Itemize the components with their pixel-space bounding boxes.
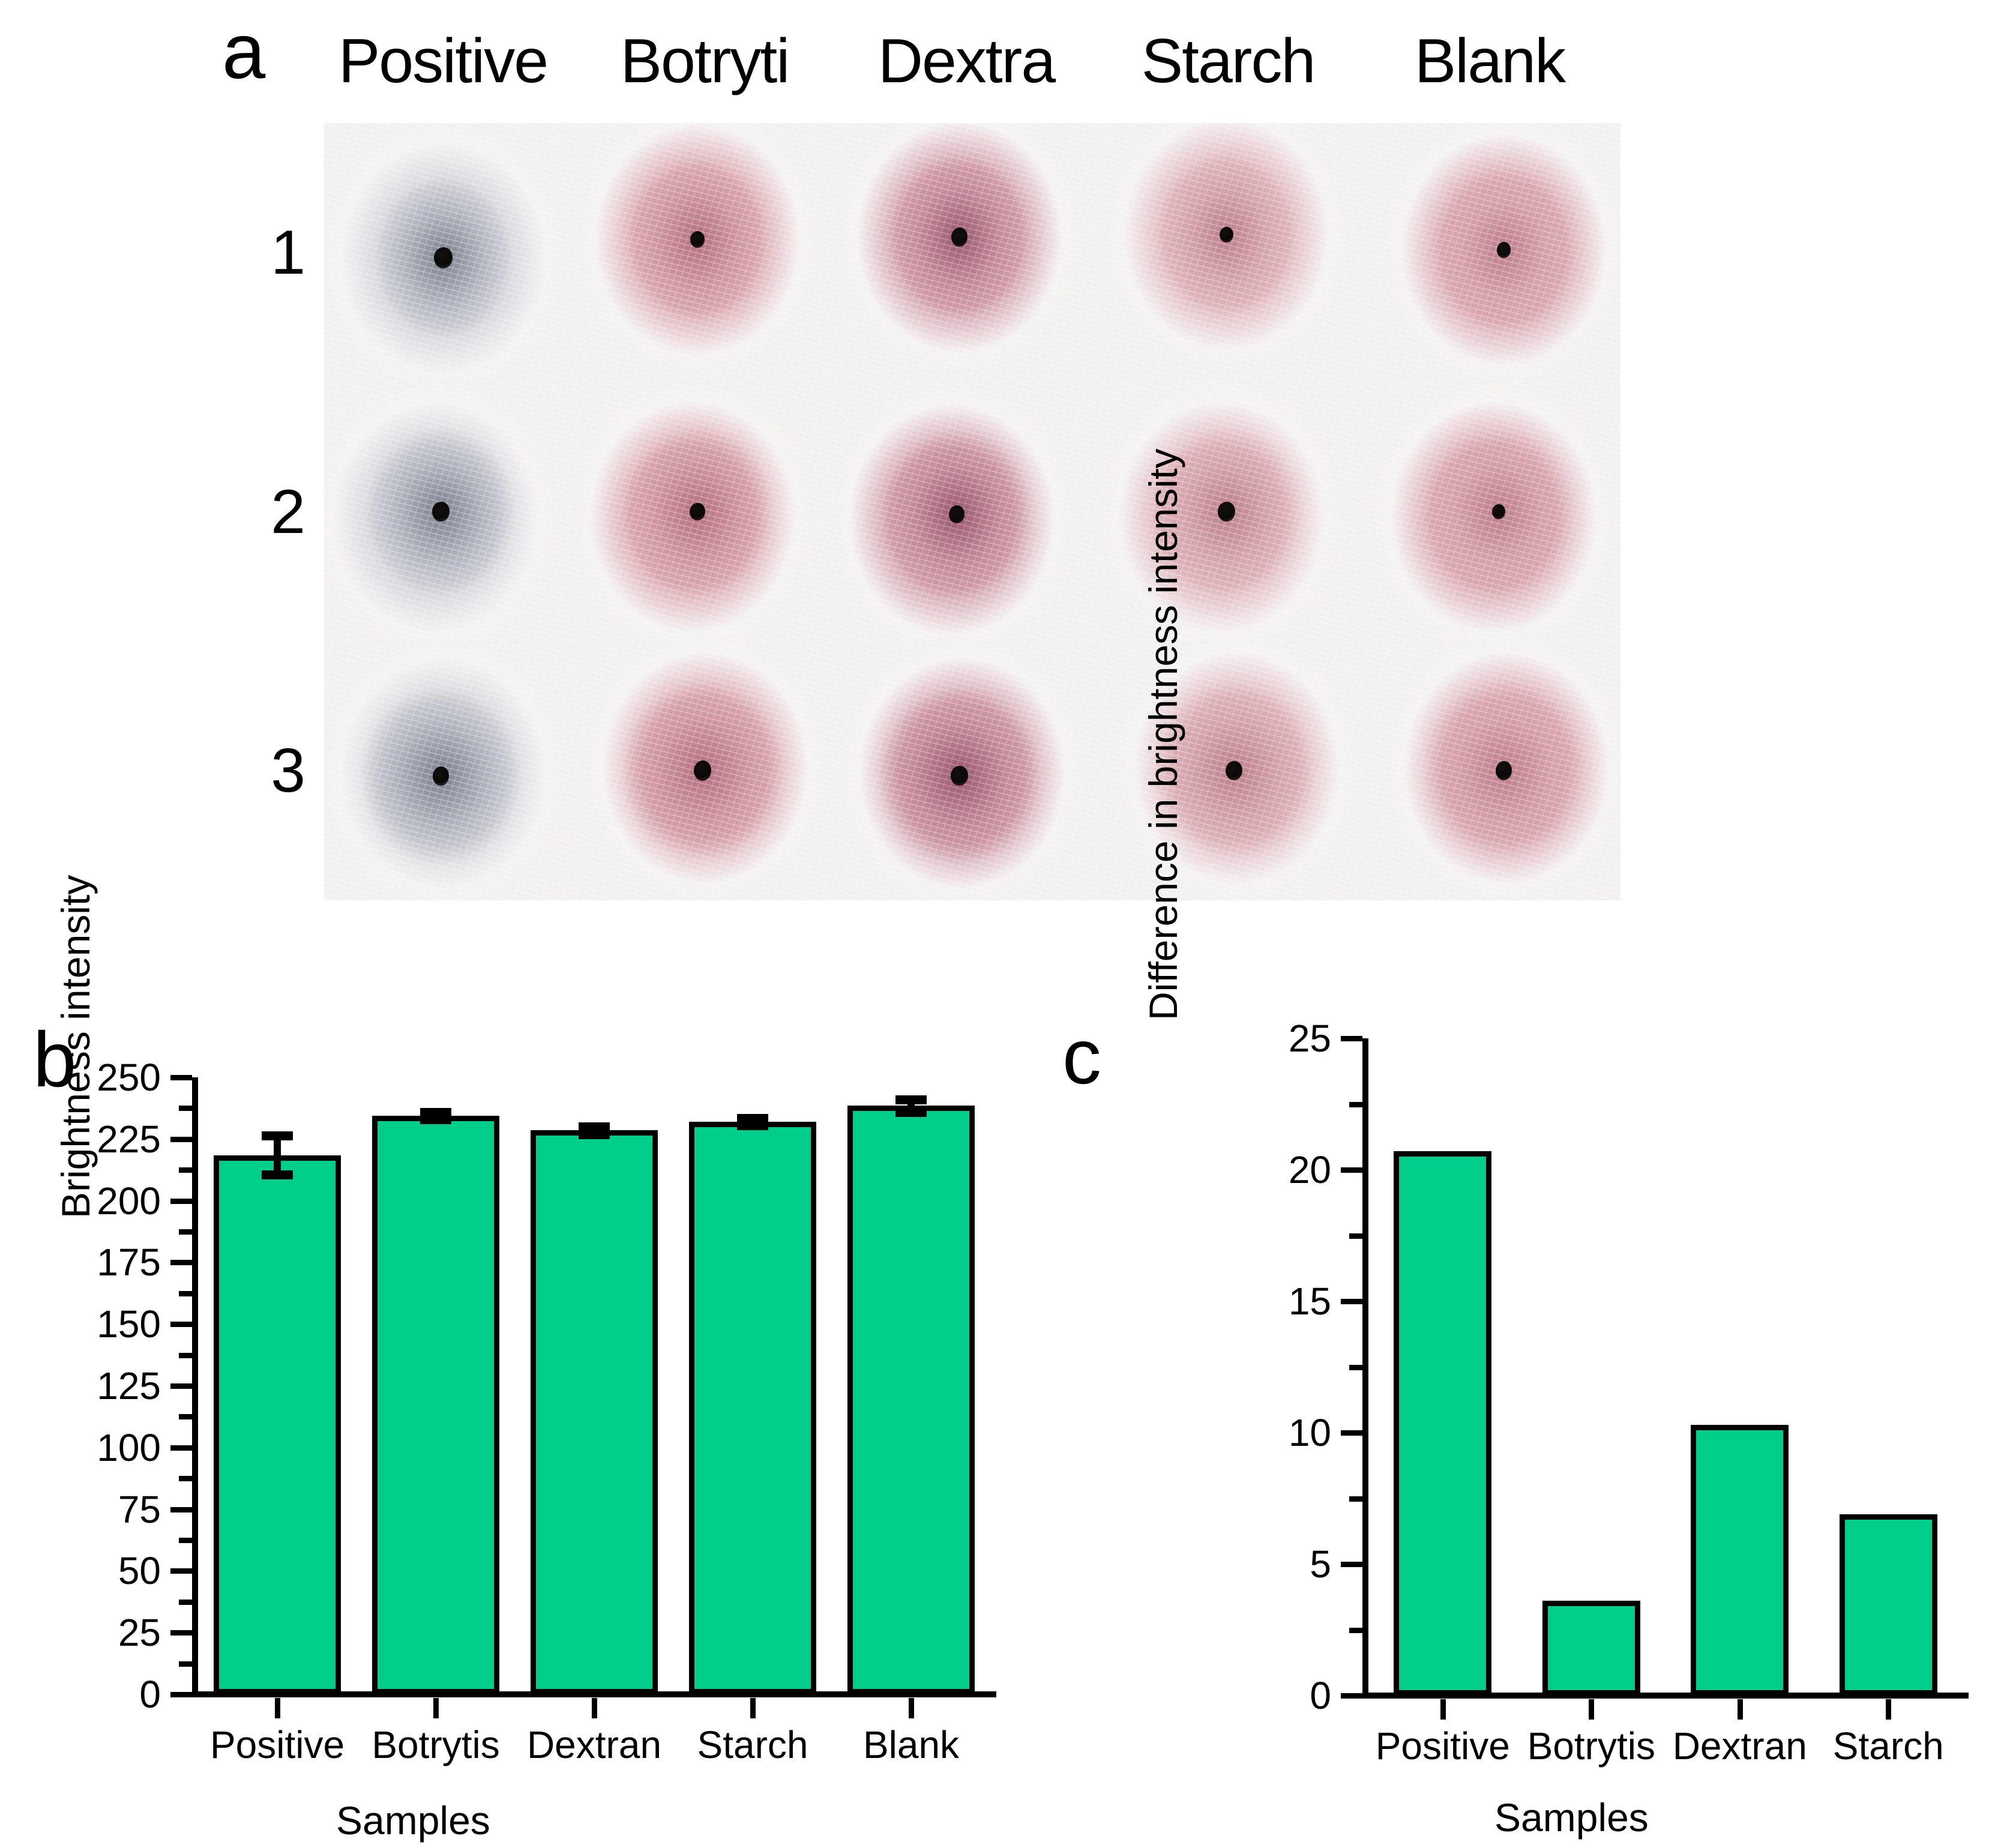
y-tick-minor [179,1414,192,1419]
fabric-texture [324,641,583,900]
panel-b-plot-area: 0255075100125150175200225250PositiveBotr… [198,1077,990,1694]
error-bar-cap-lower [737,1121,768,1130]
y-tick-major [170,1445,192,1451]
y-tick-minor [179,1229,192,1235]
y-tick-label: 225 [97,1120,161,1158]
fabric-texture [843,641,1102,900]
y-tick-minor [179,1167,192,1173]
panel-c-plot-area: 0510152025PositiveBotrytisDextranStarch [1368,1038,1963,1696]
y-tick-label: 0 [1310,1676,1331,1715]
panel-a-row-labels: 1 2 3 [261,123,315,900]
panel-a-column-headers: Positive Botryti Dextra Starch Blank [312,30,1620,102]
bar-blank [847,1106,974,1694]
error-bar-stem [274,1136,281,1175]
y-tick-minor [179,1291,192,1296]
column-header-positive: Positive [312,30,574,102]
sample-image-r2-c3 [843,382,1102,642]
y-tick-label: 150 [97,1305,161,1343]
sample-image-r1-c1 [324,123,583,382]
y-tick-minor [179,1661,192,1667]
y-tick-label: 5 [1310,1545,1331,1583]
y-tick-label: 75 [118,1490,161,1529]
x-tick [433,1698,439,1718]
panel-b-y-axis-line [192,1077,198,1697]
sample-image-r2-c5 [1361,382,1620,642]
y-tick-major [1341,1299,1362,1304]
sample-image-r3-c3 [843,641,1102,900]
y-tick-major [170,1199,192,1204]
y-tick-label: 20 [1289,1151,1331,1189]
error-bar-cap-upper [262,1131,293,1140]
x-tick [909,1698,914,1718]
fabric-texture [324,382,583,642]
bar-starch [1840,1514,1937,1696]
sample-image-r3-c1 [324,641,583,900]
sample-image-r3-c2 [583,641,843,900]
panel-a: a Positive Botryti Dextra Starch Blank 1… [0,0,1992,936]
y-tick-label: 0 [139,1675,161,1714]
bar-dextran [1691,1425,1789,1696]
sample-image-r1-c3 [843,123,1102,382]
center-dot [951,766,968,786]
error-bar-cap-lower [895,1108,927,1117]
panel-c-x-axis-title: Samples [1494,1795,1649,1840]
x-category-label-starch: Starch [1786,1727,1990,1765]
y-tick-minor [1349,1365,1362,1370]
y-tick-label: 100 [97,1428,161,1467]
x-tick [1440,1699,1446,1720]
bar-positive [1394,1151,1491,1696]
fabric-texture [324,123,583,382]
column-header-starch: Starch [1097,30,1359,102]
panel-c-y-axis-title: Difference in brightness intensity [1140,448,1186,1020]
bar-starch [689,1122,816,1694]
fabric-texture [843,123,1102,382]
row-label-1: 1 [261,123,315,382]
x-tick [1738,1699,1743,1720]
fabric-texture [1361,641,1620,900]
y-tick-minor [179,1538,192,1543]
x-tick [1589,1699,1594,1720]
y-tick-minor [179,1600,192,1605]
y-tick-minor [1349,1102,1362,1107]
panel-a-image-grid [324,123,1620,900]
sample-image-r2-c2 [583,382,843,642]
y-tick-label: 125 [97,1367,161,1405]
sample-image-r1-c2 [583,123,843,382]
y-tick-major [1341,1036,1362,1041]
error-bar-cap-lower [262,1170,293,1179]
sample-image-r1-c4 [1102,123,1361,382]
center-dot [1497,242,1511,258]
fabric-texture [583,382,843,642]
row-label-3: 3 [261,641,315,900]
panel-b-y-axis-title: Brightness intensity [53,875,98,1218]
error-bar-cap-upper [895,1095,927,1104]
panel-b: b Brightness intensity 02550751001251501… [0,960,1020,1848]
y-tick-major [1341,1693,1362,1699]
y-tick-label: 10 [1289,1413,1331,1452]
x-tick [1886,1699,1891,1720]
panel-b-x-axis-title: Samples [336,1798,490,1843]
y-tick-minor [179,1106,192,1111]
y-tick-minor [1349,1233,1362,1239]
panel-a-letter: a [222,12,265,90]
fabric-texture [1361,382,1620,642]
center-dot [1220,227,1233,242]
y-tick-major [170,1075,192,1080]
sample-image-r2-c1 [324,382,583,642]
bar-botrytis [1542,1601,1640,1696]
column-header-botryti: Botryti [574,30,835,102]
sample-image-r1-c5 [1361,123,1620,382]
y-tick-label: 250 [97,1058,161,1097]
sample-image-r3-c5 [1361,641,1620,900]
x-category-label-blank: Blank [809,1726,1013,1764]
error-bar-cap-lower [579,1130,610,1139]
panel-c-letter: c [1062,1017,1101,1095]
bar-botrytis [372,1116,499,1694]
x-tick [592,1698,597,1718]
column-header-blank: Blank [1359,30,1620,102]
y-tick-minor [179,1353,192,1358]
y-tick-major [170,1692,192,1697]
fabric-texture [1361,123,1620,382]
y-tick-major [1341,1430,1362,1436]
center-dot [951,227,968,247]
error-bar-cap-lower [420,1115,451,1124]
y-tick-major [170,1260,192,1265]
y-tick-major [170,1322,192,1327]
y-tick-minor [1349,1628,1362,1633]
center-dot [1218,502,1235,522]
y-tick-minor [179,1476,192,1481]
fabric-texture [583,641,843,900]
y-tick-major [1341,1167,1362,1173]
bar-positive [214,1155,340,1694]
bar-dextran [531,1130,657,1694]
x-tick [750,1698,756,1718]
y-tick-major [1341,1562,1362,1567]
panel-c-y-axis-line [1362,1038,1368,1699]
y-tick-label: 15 [1289,1282,1331,1320]
fabric-texture [583,123,843,382]
fabric-texture [1102,123,1361,382]
center-dot [949,505,964,523]
y-tick-label: 175 [97,1243,161,1281]
row-label-2: 2 [261,382,315,642]
center-dot [434,247,453,269]
y-tick-major [170,1630,192,1636]
y-tick-major [170,1137,192,1142]
y-tick-label: 25 [1289,1019,1331,1058]
y-tick-label: 200 [97,1182,161,1220]
center-dot [433,766,450,786]
y-tick-label: 50 [118,1552,161,1590]
fabric-texture [843,382,1102,642]
center-dot [432,502,450,522]
y-tick-minor [1349,1496,1362,1502]
panel-c: c Difference in brightness intensity 051… [996,960,1992,1848]
column-header-dextra: Dextra [835,30,1097,102]
y-tick-label: 25 [118,1613,161,1652]
center-dot [690,503,705,521]
center-dot [1226,761,1242,780]
y-tick-major [170,1507,192,1512]
y-tick-major [170,1383,192,1389]
y-tick-major [170,1568,192,1574]
x-tick [275,1698,280,1718]
